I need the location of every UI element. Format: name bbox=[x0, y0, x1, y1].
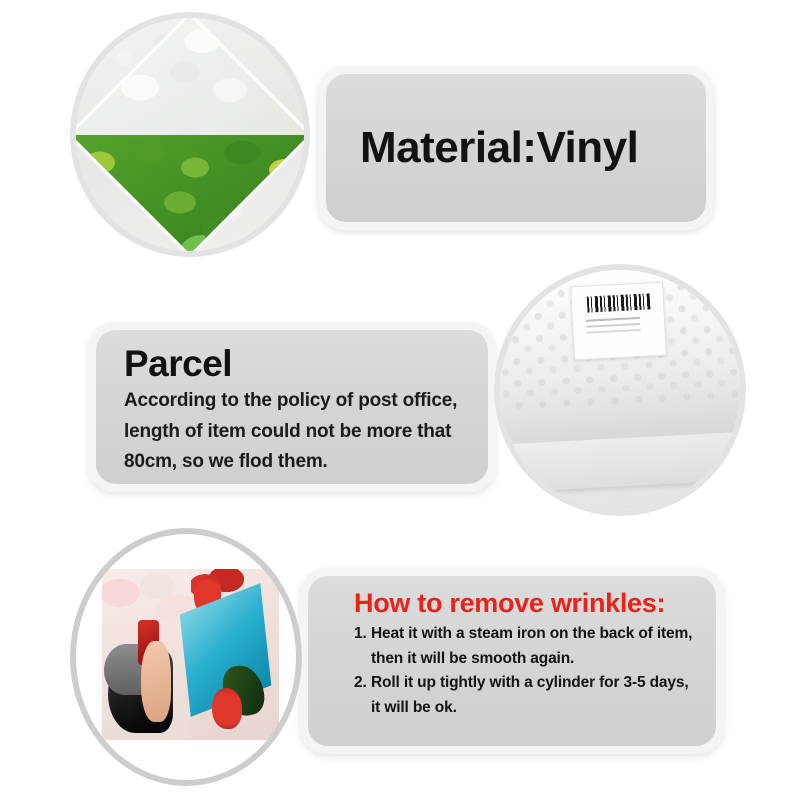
wrinkles-step-1: 1. Heat it with a steam iron on the back… bbox=[354, 622, 698, 671]
label-text-lines bbox=[586, 317, 641, 322]
step-1-number: 1. bbox=[354, 622, 371, 671]
step-2-line-2: it will be ok. bbox=[371, 696, 698, 720]
step-1-line-1: Heat it with a steam iron on the back of… bbox=[371, 622, 698, 646]
material-banner: Material:Vinyl bbox=[318, 66, 714, 230]
wrinkles-banner-panel: How to remove wrinkles: 1. Heat it with … bbox=[308, 576, 716, 746]
parcel-text-line-3: 80cm, so we flod them. bbox=[124, 447, 466, 478]
step-1-body: Heat it with a steam iron on the back of… bbox=[371, 622, 698, 671]
steam-iron-photo bbox=[102, 569, 190, 739]
leaves-photo-medallion bbox=[70, 12, 310, 257]
wrinkle-photo-medallion bbox=[70, 528, 302, 786]
material-banner-panel: Material:Vinyl bbox=[326, 74, 706, 222]
wrinkles-step-2: 2. Roll it up tightly with a cylinder fo… bbox=[354, 671, 698, 720]
parcel-banner: Parcel According to the policy of post o… bbox=[88, 322, 496, 492]
barcode-icon bbox=[586, 294, 651, 313]
wrinkle-photo-image bbox=[102, 569, 278, 739]
shipping-label bbox=[570, 282, 667, 361]
parcel-photo-image bbox=[500, 270, 740, 510]
wrinkles-banner: How to remove wrinkles: 1. Heat it with … bbox=[300, 568, 724, 754]
parcel-banner-panel: Parcel According to the policy of post o… bbox=[96, 330, 488, 484]
step-2-body: Roll it up tightly with a cylinder for 3… bbox=[371, 671, 698, 720]
parcel-photo-medallion bbox=[494, 264, 746, 516]
step-2-line-1: Roll it up tightly with a cylinder for 3… bbox=[371, 671, 698, 695]
step-2-number: 2. bbox=[354, 671, 371, 720]
infographic-canvas: Material:Vinyl Parcel According to the p… bbox=[0, 0, 800, 800]
parcel-heading: Parcel bbox=[124, 344, 466, 384]
wrinkles-heading: How to remove wrinkles: bbox=[354, 588, 698, 618]
hand bbox=[141, 641, 171, 723]
step-1-line-2: then it will be smooth again. bbox=[371, 647, 698, 671]
vinyl-roll-photo bbox=[191, 569, 279, 739]
parcel-text-line-2: length of item could not be more that bbox=[124, 417, 466, 448]
parcel-text-line-1: According to the policy of post office, bbox=[124, 386, 466, 417]
rose-bottom bbox=[212, 688, 242, 729]
material-heading: Material:Vinyl bbox=[360, 125, 686, 171]
